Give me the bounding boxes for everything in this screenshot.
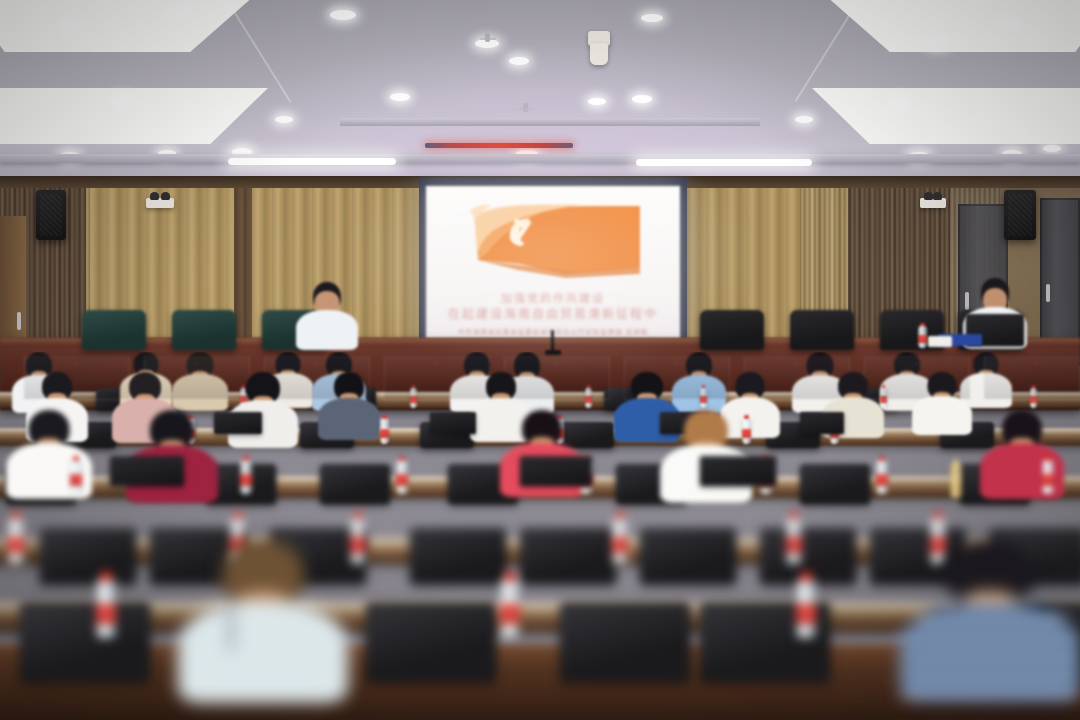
downlight-6 xyxy=(926,38,950,47)
bottle-label xyxy=(8,537,24,553)
bottle-cap xyxy=(1045,456,1052,461)
bottle-label xyxy=(796,604,816,624)
downlight-11 xyxy=(632,95,652,103)
wall-light-right xyxy=(920,198,946,208)
water-bottle[interactable] xyxy=(240,460,252,494)
bottle-label xyxy=(350,537,366,553)
audience-person xyxy=(912,372,972,430)
bottle-label xyxy=(240,474,252,486)
bottle-cap xyxy=(879,456,886,461)
water-bottle[interactable] xyxy=(786,518,802,564)
projection-screen: 加强党的作风建设 在起建设海南自由贸易港新征程中 中共海南省纪委省监委驻省政府办… xyxy=(426,186,680,346)
audience-chair[interactable] xyxy=(640,528,736,584)
presidium-chair-1[interactable] xyxy=(172,310,236,350)
audience-laptop[interactable] xyxy=(214,412,262,434)
bottle-cap xyxy=(953,460,960,465)
ceiling-beam-lower xyxy=(0,154,1080,163)
wall-light-left xyxy=(146,198,174,208)
bottle-label xyxy=(876,474,888,486)
presiding-speaker-left xyxy=(296,282,358,344)
person-torso xyxy=(912,396,972,435)
head-table-chevron-3 xyxy=(397,363,476,376)
audience-chair[interactable] xyxy=(40,528,136,584)
bottle-cap xyxy=(800,572,811,581)
presidium-bottle xyxy=(918,326,927,348)
downlight-21 xyxy=(795,116,813,123)
downlight-2 xyxy=(330,10,356,20)
audience-laptop[interactable] xyxy=(700,456,776,486)
audience-chair[interactable] xyxy=(800,464,870,504)
person-torso xyxy=(900,601,1080,703)
fluorescent-tube-right xyxy=(636,159,812,166)
desk-microphone xyxy=(551,330,554,352)
speaker-right xyxy=(1004,190,1036,240)
striped-polo-pattern xyxy=(900,601,1080,703)
water-bottle[interactable] xyxy=(96,580,116,638)
speaker-left xyxy=(36,190,66,240)
water-bottle[interactable] xyxy=(612,518,628,564)
water-bottle[interactable] xyxy=(796,580,816,638)
downlight-20 xyxy=(275,116,293,123)
water-bottle[interactable] xyxy=(380,418,389,444)
security-camera xyxy=(590,43,608,65)
downlight-0 xyxy=(58,22,82,31)
water-bottle[interactable] xyxy=(8,518,24,564)
downlight-18 xyxy=(1043,145,1061,152)
microphone-base xyxy=(545,350,561,355)
slide-title-line2: 在起建设海南自由贸易港新征程中 xyxy=(426,305,680,322)
bottle-cap xyxy=(399,456,406,461)
led-strip-banner xyxy=(425,143,573,148)
person-torso xyxy=(178,601,348,703)
conference-hall-photo: 加强党的作风建设 在起建设海南自由贸易港新征程中 中共海南省纪委省监委驻省政府办… xyxy=(0,0,1080,720)
presidium-papers xyxy=(928,336,952,347)
audience-laptop[interactable] xyxy=(520,456,592,486)
audience-chair[interactable] xyxy=(560,602,690,682)
head-table-chevron-8 xyxy=(997,363,1076,376)
water-bottle[interactable] xyxy=(500,580,520,638)
bottle-label xyxy=(380,429,389,438)
water-bottle[interactable] xyxy=(1042,460,1054,494)
audience-chair[interactable] xyxy=(20,602,150,682)
audience-person xyxy=(178,540,348,690)
downlight-10 xyxy=(390,93,410,101)
downlight-13 xyxy=(588,98,606,105)
sprinkler-head-upper xyxy=(485,33,490,42)
bottle-cap xyxy=(354,512,363,519)
bottle-label xyxy=(786,537,802,553)
audience-laptop[interactable] xyxy=(800,412,844,434)
bottle-cap xyxy=(504,572,515,581)
audience-area xyxy=(0,352,1080,720)
fluorescent-tube-left xyxy=(228,158,396,165)
water-bottle[interactable] xyxy=(876,460,888,494)
bottle-cap xyxy=(12,512,21,519)
head-table-panel-8 xyxy=(984,356,1080,400)
audience-chair[interactable] xyxy=(320,464,390,504)
presidium-chair-3[interactable] xyxy=(700,310,764,350)
audience-laptop[interactable] xyxy=(110,456,184,486)
ceiling-beam xyxy=(340,118,760,126)
downlight-4 xyxy=(509,57,529,65)
bottle-cap xyxy=(100,572,111,581)
water-bottle[interactable] xyxy=(350,518,366,564)
bottle-cap xyxy=(790,512,799,519)
audience-laptop[interactable] xyxy=(430,412,476,434)
lanyard xyxy=(229,606,233,651)
audience-person xyxy=(900,540,1080,690)
sprinkler-head-lower xyxy=(523,103,528,112)
audience-person xyxy=(318,372,380,434)
bottle-cap xyxy=(243,456,250,461)
slide-title-line1: 加强党的作风建设 xyxy=(426,290,680,306)
presidium-chair-4[interactable] xyxy=(790,310,854,350)
bottle-label xyxy=(1042,474,1054,486)
bottle-cap xyxy=(616,512,625,519)
bottle-label xyxy=(396,474,408,486)
person-torso xyxy=(318,398,380,440)
bottle-cap xyxy=(234,512,243,519)
downlight-5 xyxy=(641,14,663,22)
downlight-7 xyxy=(1000,18,1022,26)
downlight-16 xyxy=(890,98,910,106)
bottle-cap xyxy=(73,456,80,461)
water-bottle[interactable] xyxy=(396,460,408,494)
audience-chair[interactable] xyxy=(366,602,496,682)
bottle-label xyxy=(96,604,116,624)
bottle-cap xyxy=(382,415,387,419)
bottle-label xyxy=(500,604,520,624)
water-bottle[interactable] xyxy=(70,460,82,494)
bottle-label xyxy=(70,474,82,486)
presidium-chair-0[interactable] xyxy=(82,310,146,350)
bottle-cap xyxy=(934,512,943,519)
audience-chair[interactable] xyxy=(410,528,506,584)
downlight-1 xyxy=(168,8,190,16)
downlight-12 xyxy=(112,96,134,105)
water-bottle[interactable] xyxy=(950,464,962,498)
party-flag-hammer-sickle-icon xyxy=(454,198,654,286)
audience-chair[interactable] xyxy=(520,528,616,584)
bottle-label xyxy=(612,537,628,553)
